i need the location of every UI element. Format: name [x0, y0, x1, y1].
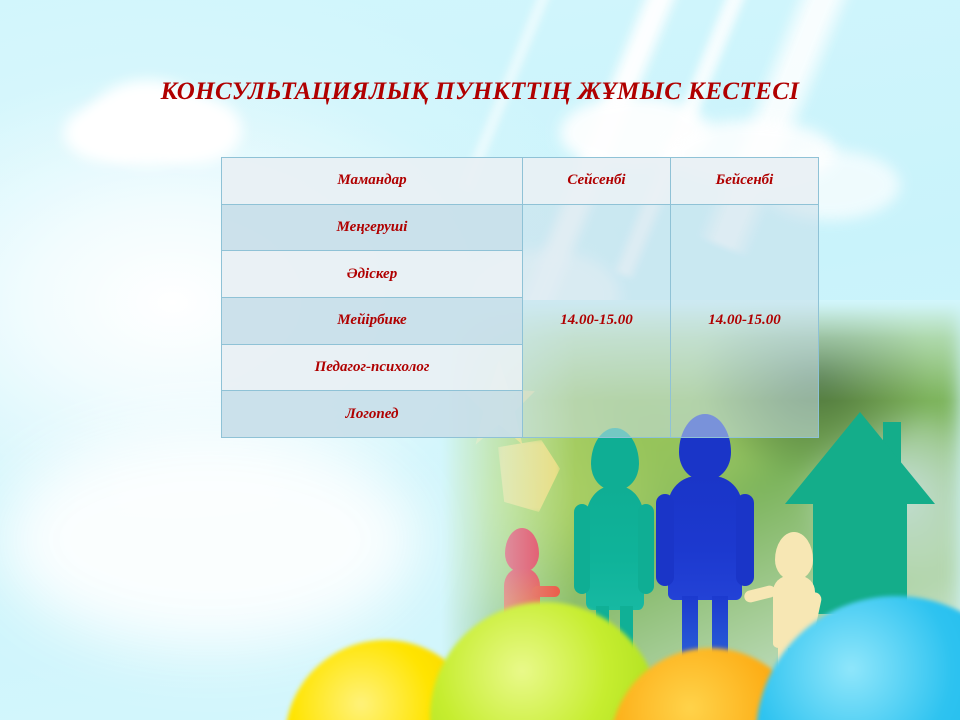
- cell-specialist: Меңгеруші: [222, 204, 523, 251]
- cell-tuesday-time: 14.00-15.00: [523, 204, 671, 437]
- ball-cyan: [756, 596, 960, 720]
- cell-specialist: Педагог-психолог: [222, 344, 523, 391]
- schedule-table-container: Мамандар Сейсенбі Бейсенбі Меңгеруші 14.…: [221, 157, 816, 438]
- table-row: Меңгеруші 14.00-15.00 14.00-15.00: [222, 204, 819, 251]
- slide-canvas: КОНСУЛЬТАЦИЯЛЫҚ ПУНКТТІҢ ЖҰМЫС КЕСТЕСІ М…: [0, 0, 960, 720]
- column-header-thursday: Бейсенбі: [671, 158, 819, 205]
- table-header-row: Мамандар Сейсенбі Бейсенбі: [222, 158, 819, 205]
- puzzle-shape-icon: [498, 440, 560, 512]
- column-header-specialists: Мамандар: [222, 158, 523, 205]
- schedule-table: Мамандар Сейсенбі Бейсенбі Меңгеруші 14.…: [221, 157, 819, 438]
- house-icon: [785, 412, 935, 612]
- cloud-icon: [146, 96, 242, 164]
- cell-specialist: Әдіскер: [222, 251, 523, 298]
- cell-specialist: Логопед: [222, 391, 523, 438]
- figure-father-blue: [662, 414, 748, 666]
- haze-glow: [0, 430, 420, 650]
- column-header-tuesday: Сейсенбі: [523, 158, 671, 205]
- cell-specialist: Мейірбике: [222, 297, 523, 344]
- cell-thursday-time: 14.00-15.00: [671, 204, 819, 437]
- page-title: КОНСУЛЬТАЦИЯЛЫҚ ПУНКТТІҢ ЖҰМЫС КЕСТЕСІ: [0, 78, 960, 106]
- cloud-icon: [64, 104, 152, 162]
